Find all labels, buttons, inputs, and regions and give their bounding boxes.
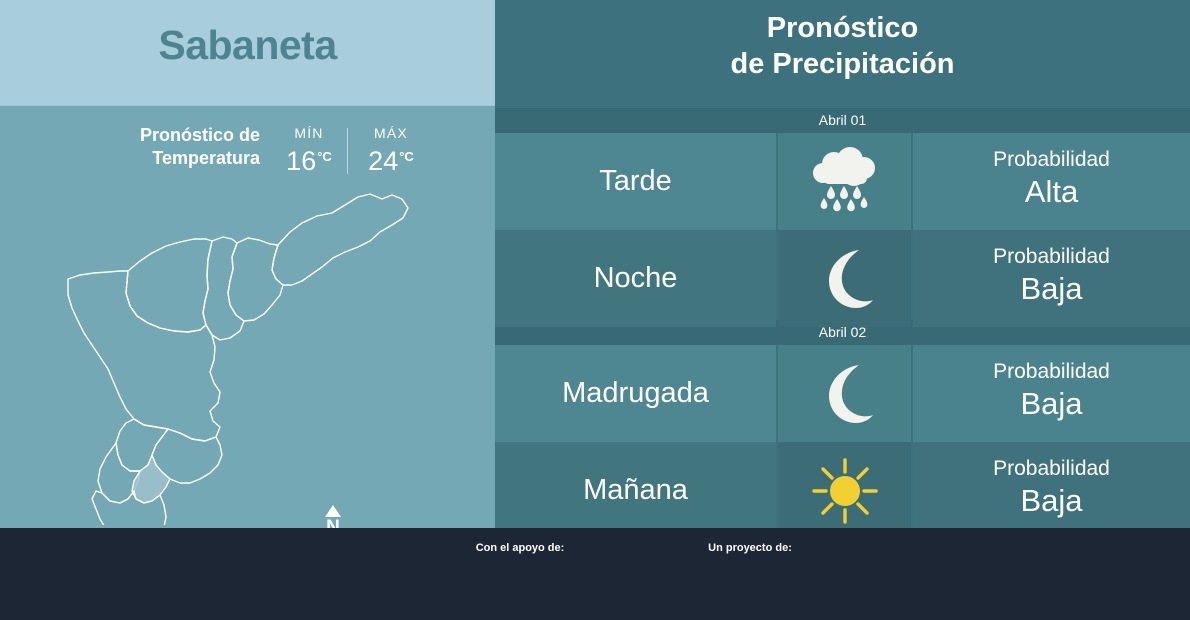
probability-word: Probabilidad [913, 244, 1190, 270]
temperature-min-unit: °C [317, 149, 332, 164]
left-panel: Sabaneta Pronóstico de Temperatura MÍN 1… [0, 0, 495, 528]
moon-glyph [813, 246, 877, 312]
moon-glyph [813, 361, 877, 427]
right-panel: Pronóstico de Precipitación Abril 01 Abr… [495, 0, 1190, 528]
map-region-bello [126, 239, 212, 332]
city-title: Sabaneta [0, 22, 495, 69]
rain-cloud-glyph [806, 146, 884, 218]
temperature-divider [347, 128, 348, 174]
forecast-icon-cell [778, 345, 911, 442]
forecast-period-label: Madrugada [495, 345, 776, 442]
temperature-min-label: MÍN [270, 124, 348, 142]
rain-cloud-icon [778, 133, 911, 230]
forecast-probability-text: Probabilidad Baja [913, 359, 1190, 422]
map-region-barbosa [272, 194, 408, 285]
temperature-header: Pronóstico de Temperatura MÍN 16°C MÁX 2… [0, 118, 495, 180]
forecast-period-cell: Mañana [495, 442, 776, 539]
forecast-period-cell: Noche [495, 230, 776, 327]
map-region-medellin [68, 271, 220, 441]
temperature-min-value: 16 [286, 146, 316, 176]
forecast-period-label: Mañana [495, 442, 776, 539]
temperature-min-block: MÍN 16°C [270, 124, 348, 176]
city-band: Sabaneta [0, 0, 495, 106]
probability-word: Probabilidad [913, 147, 1190, 173]
weather-infographic: Sabaneta Pronóstico de Temperatura MÍN 1… [0, 0, 1190, 620]
map-region-sabaneta-highlight [132, 455, 170, 503]
forecast-probability-cell: Probabilidad Alta [913, 133, 1190, 230]
forecast-row[interactable]: Madrugada Probabilidad Baja [495, 345, 1190, 442]
moon-icon [778, 230, 911, 327]
probability-word: Probabilidad [913, 456, 1190, 482]
sun-icon [778, 442, 911, 539]
support-caption: Con el apoyo de: [410, 542, 630, 554]
forecast-probability-text: Probabilidad Baja [913, 244, 1190, 307]
map-region-itagui [116, 419, 168, 471]
date-band-april-01: Abril 01 [495, 108, 1190, 133]
temperature-title-line1: Pronóstico de [60, 124, 260, 147]
forecast-row[interactable]: Tarde [495, 133, 1190, 230]
temperature-max-block: MÁX 24°C [352, 124, 430, 176]
valle-de-aburra-map: N [40, 175, 460, 525]
probability-level: Alta [913, 173, 1190, 210]
forecast-probability-text: Probabilidad Baja [913, 456, 1190, 519]
forecast-period-cell: Tarde [495, 133, 776, 230]
temperature-title: Pronóstico de Temperatura [60, 124, 260, 170]
forecast-probability-cell: Probabilidad Baja [913, 345, 1190, 442]
forecast-period-cell: Madrugada [495, 345, 776, 442]
moon-icon [778, 345, 911, 442]
temperature-max-label: MÁX [352, 124, 430, 142]
sun-glyph [808, 454, 882, 528]
temperature-min-value-group: 16°C [270, 142, 348, 176]
forecast-title-line1: Pronóstico [495, 10, 1190, 46]
footer: Con el apoyo de: Un proyecto de: SIATA e… [0, 528, 1190, 620]
map-svg [40, 175, 460, 525]
forecast-probability-cell: Probabilidad Baja [913, 230, 1190, 327]
probability-level: Baja [913, 482, 1190, 519]
forecast-icon-cell [778, 133, 911, 230]
forecast-probability-text: Probabilidad Alta [913, 147, 1190, 210]
probability-level: Baja [913, 270, 1190, 307]
probability-level: Baja [913, 385, 1190, 422]
map-region-girardota [228, 238, 283, 321]
project-caption: Un proyecto de: [640, 542, 860, 554]
forecast-icon-cell [778, 230, 911, 327]
temperature-max-value-group: 24°C [352, 142, 430, 176]
forecast-title: Pronóstico de Precipitación [495, 10, 1190, 82]
temperature-max-unit: °C [399, 149, 414, 164]
probability-word: Probabilidad [913, 359, 1190, 385]
temperature-title-line2: Temperatura [60, 147, 260, 170]
forecast-row[interactable]: Mañana [495, 442, 1190, 539]
temperature-max-value: 24 [368, 146, 398, 176]
forecast-icon-cell [778, 442, 911, 539]
forecast-title-line2: de Precipitación [495, 46, 1190, 82]
forecast-row[interactable]: Noche Probabilidad Baja [495, 230, 1190, 327]
forecast-probability-cell: Probabilidad Baja [913, 442, 1190, 539]
forecast-period-label: Tarde [495, 133, 776, 230]
forecast-period-label: Noche [495, 230, 776, 327]
north-arrow-icon [325, 505, 341, 517]
